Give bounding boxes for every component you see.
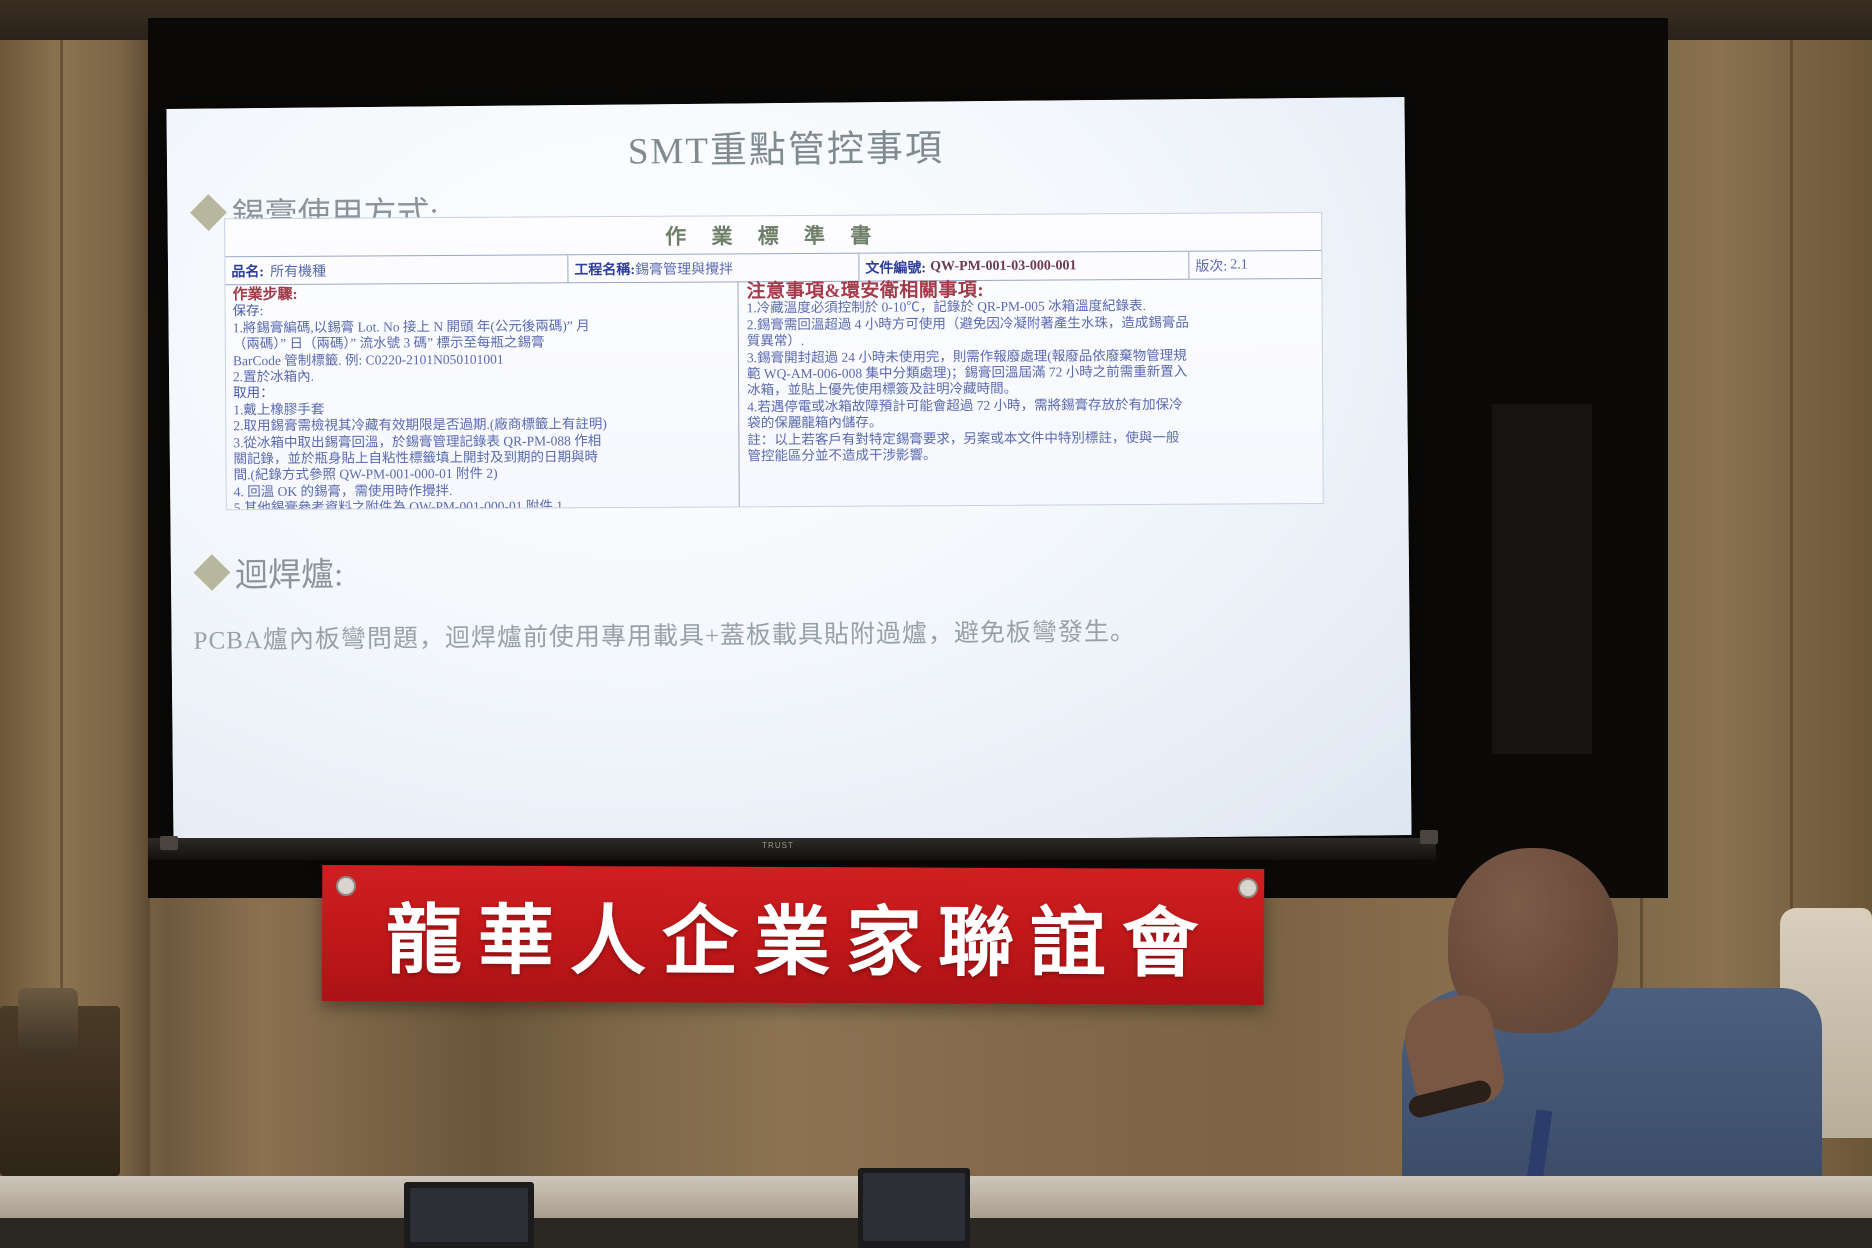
sop-notes-column: 注意事項&環安衛相關事項: 1.冷藏溫度必須控制於 0-10℃，記錄於 QR-P…: [738, 279, 1322, 510]
banner-char: 聯: [938, 881, 1016, 991]
banner-char: 誼: [1030, 881, 1108, 991]
sop-note-line: 管控能區分並不造成干涉影響。: [747, 445, 1316, 465]
banner-text: 龍 華 人 企 業 家 聯 誼 會: [322, 865, 1265, 1005]
conference-room-scene: SMT重點管控事項 錫膏使用方式: 作 業 標 準 書 品名: 所有機種: [0, 0, 1872, 1248]
banner-char: 業: [754, 880, 832, 990]
sop-process-value: 錫膏管理與攪拌: [635, 258, 733, 279]
projection-screen: SMT重點管控事項 錫膏使用方式: 作 業 標 準 書 品名: 所有機種: [166, 97, 1411, 847]
sop-body: 作業步驟: 保存: 1.將錫膏編碼,以錫膏 Lot. No 接上 N 開頭 年(…: [225, 279, 1322, 510]
sop-product-label: 品名:: [231, 261, 264, 281]
sop-docno-label: 文件編號:: [865, 257, 926, 277]
slide-paragraph: PCBA爐內板彎問題，迴焊爐前使用專用載具+蓋板載具貼附過爐，避免板彎發生。: [193, 609, 1379, 656]
wall-dark-panel: [1492, 404, 1592, 754]
sop-docno-cell: 文件編號: QW-PM-001-03-000-001: [859, 252, 1189, 281]
sop-revision-cell: 版次: 2.1: [1189, 251, 1321, 279]
sop-product-value: 所有機種: [270, 260, 326, 280]
laptop-screen: [863, 1173, 965, 1241]
red-banner: 龍 華 人 企 業 家 聯 誼 會: [322, 865, 1265, 1005]
screen-brand-label: TRUST: [748, 841, 808, 855]
slide-title: SMT重點管控事項: [167, 113, 1405, 179]
diamond-bullet-icon: [190, 194, 227, 231]
sop-document-image: 作 業 標 準 書 品名: 所有機種 工程名稱: 錫膏管理與攪拌 文件編號:: [224, 212, 1324, 510]
sop-steps-column: 作業步驟: 保存: 1.將錫膏編碼,以錫膏 Lot. No 接上 N 開頭 年(…: [225, 282, 739, 510]
sop-process-label: 工程名稱:: [574, 258, 635, 278]
sop-usage-line: 5.其他錫膏參考資料之附件為 QW-PM-001-000-01 附件 1: [234, 498, 734, 511]
decorative-vase: [18, 988, 78, 1058]
banner-char: 華: [478, 879, 556, 989]
sop-process-cell: 工程名稱: 錫膏管理與攪拌: [568, 254, 859, 283]
slide-bullet-reflow-oven: 迴焊爐:: [199, 547, 344, 596]
banner-char: 會: [1122, 881, 1200, 991]
screen-mount-hook: [160, 836, 178, 850]
sop-revision-value: 2.1: [1230, 257, 1248, 273]
sop-revision-label: 版次:: [1195, 255, 1227, 275]
laptop-device[interactable]: [404, 1182, 534, 1248]
banner-char: 家: [846, 880, 924, 990]
laptop-screen: [410, 1188, 528, 1242]
banner-char: 龍: [386, 878, 464, 988]
banner-grommet: [1238, 878, 1258, 898]
projection-surface: SMT重點管控事項 錫膏使用方式: 作 業 標 準 書 品名: 所有機種: [166, 97, 1411, 847]
banner-grommet: [336, 876, 356, 896]
presentation-slide: SMT重點管控事項 錫膏使用方式: 作 業 標 準 書 品名: 所有機種: [166, 97, 1411, 847]
sop-docno-value: QW-PM-001-03-000-001: [930, 258, 1077, 275]
sop-title: 作 業 標 準 書: [225, 213, 1321, 256]
banner-char: 人: [570, 879, 648, 989]
laptop-device[interactable]: [858, 1168, 970, 1248]
diamond-bullet-icon: [194, 554, 231, 591]
banner-char: 企: [662, 879, 740, 989]
slide-bullet-label: 迴焊爐:: [235, 547, 344, 596]
screen-mount-hook: [1420, 830, 1438, 844]
sop-product-cell: 品名: 所有機種: [225, 255, 568, 284]
